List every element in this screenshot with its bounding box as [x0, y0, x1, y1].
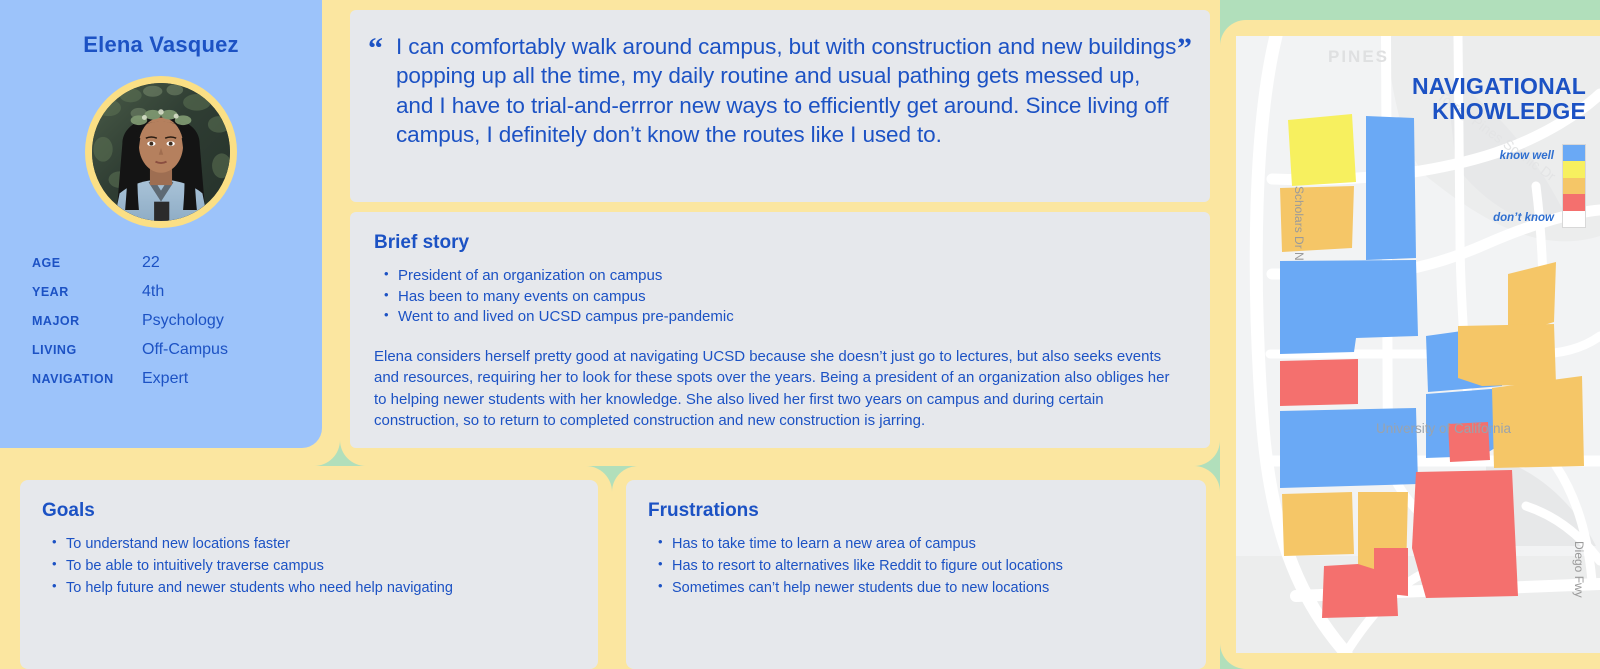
map-region-orange-3 [1458, 324, 1556, 386]
map-label-university-of-california: University of California [1376, 421, 1511, 436]
legend-swatch-white [1563, 211, 1585, 227]
map-frame: PINES Torrey Pines Scenic Dr NAVIGATIONA… [1220, 20, 1600, 669]
navigational-knowledge-map[interactable]: PINES Torrey Pines Scenic Dr NAVIGATIONA… [1236, 36, 1600, 653]
map-region-red-1 [1280, 359, 1358, 406]
legend-swatch-red [1563, 194, 1585, 210]
brief-story-panel: Brief story President of an organization… [350, 212, 1210, 448]
portrait-photo-icon [92, 83, 230, 221]
attribute-value: 22 [142, 254, 160, 272]
list-item: Went to and lived on UCSD campus pre-pan… [382, 307, 1182, 328]
map-title: NAVIGATIONAL KNOWLEDGE [1412, 74, 1586, 124]
avatar-ring [85, 76, 237, 228]
list-item: To understand new locations faster [50, 533, 574, 555]
goals-title: Goals [42, 500, 574, 522]
map-region-orange-5 [1282, 492, 1354, 556]
legend-label-know-well: know well [1500, 150, 1554, 162]
goals-bullets: To understand new locations faster To be… [42, 533, 574, 600]
attribute-row-navigation: NAVIGATION Expert [32, 370, 292, 388]
map-region-red-3 [1412, 470, 1518, 598]
list-item: To be able to intuitively traverse campu… [50, 555, 574, 577]
attribute-key: YEAR [32, 285, 142, 299]
map-legend: know well don’t know [1442, 144, 1592, 228]
attribute-row-year: YEAR 4th [32, 283, 292, 301]
quote-panel: “ ” I can comfortably walk around campus… [350, 10, 1210, 202]
legend-gradient-bar [1562, 144, 1586, 228]
street-label-diego-fwy: Diego Fwy [1572, 541, 1586, 598]
brief-story-title: Brief story [374, 232, 1182, 254]
attribute-value: Psychology [142, 312, 224, 330]
quote-text: I can comfortably walk around campus, bu… [396, 32, 1180, 150]
avatar [92, 83, 230, 221]
street-label-scholars-dr-n: Scholars Dr N [1292, 186, 1306, 261]
goals-frame: Goals To understand new locations faster… [0, 466, 612, 669]
brief-story-bullets: President of an organization on campus H… [374, 266, 1182, 328]
attributes-list: AGE 22 YEAR 4th MAJOR Psychology LIVING … [30, 254, 292, 388]
frustrations-panel: Frustrations Has to take time to learn a… [626, 480, 1206, 669]
list-item: Has to take time to learn a new area of … [656, 533, 1182, 555]
legend-swatch-orange [1563, 178, 1585, 194]
list-item: President of an organization on campus [382, 266, 1182, 287]
attribute-row-major: MAJOR Psychology [32, 312, 292, 330]
list-item: Sometimes can’t help newer students due … [656, 577, 1182, 599]
frustrations-title: Frustrations [648, 500, 1182, 522]
profile-card: Elena Vasquez [0, 0, 322, 448]
center-column-frame: “ ” I can comfortably walk around campus… [340, 0, 1220, 466]
brief-story-paragraph: Elena considers herself pretty good at n… [374, 346, 1182, 431]
map-title-line2: KNOWLEDGE [1412, 99, 1586, 124]
svg-text:PINES: PINES [1328, 47, 1389, 66]
attribute-key: AGE [32, 256, 142, 270]
map-title-line1: NAVIGATIONAL [1412, 74, 1586, 99]
frustrations-frame: Frustrations Has to take time to learn a… [612, 466, 1220, 669]
map-region-blue-1 [1366, 116, 1416, 260]
attribute-row-living: LIVING Off-Campus [32, 341, 292, 359]
page-title: Elena Vasquez [30, 32, 292, 58]
map-region-yellow-1 [1288, 114, 1356, 186]
persona-page: Elena Vasquez [0, 0, 1600, 669]
profile-card-frame: Elena Vasquez [0, 0, 340, 466]
list-item: To help future and newer students who ne… [50, 577, 574, 599]
legend-label-dont-know: don’t know [1493, 212, 1554, 224]
attribute-key: LIVING [32, 343, 142, 357]
quote-close-icon: ” [1177, 34, 1192, 64]
legend-swatch-yellow [1563, 161, 1585, 177]
attribute-value: Expert [142, 370, 188, 388]
list-item: Has to resort to alternatives like Reddi… [656, 555, 1182, 577]
attribute-value: 4th [142, 283, 164, 301]
goals-panel: Goals To understand new locations faster… [20, 480, 598, 669]
attribute-key: NAVIGATION [32, 372, 142, 386]
attribute-key: MAJOR [32, 314, 142, 328]
attribute-value: Off-Campus [142, 341, 228, 359]
quote-open-icon: “ [368, 34, 383, 64]
legend-swatch-blue [1563, 145, 1585, 161]
map-region-blue-3 [1280, 408, 1418, 488]
attribute-row-age: AGE 22 [32, 254, 292, 272]
list-item: Has been to many events on campus [382, 287, 1182, 308]
frustrations-bullets: Has to take time to learn a new area of … [648, 533, 1182, 600]
map-region-red-5 [1374, 548, 1408, 596]
map-graphic: PINES Torrey Pines Scenic Dr [1236, 36, 1600, 653]
